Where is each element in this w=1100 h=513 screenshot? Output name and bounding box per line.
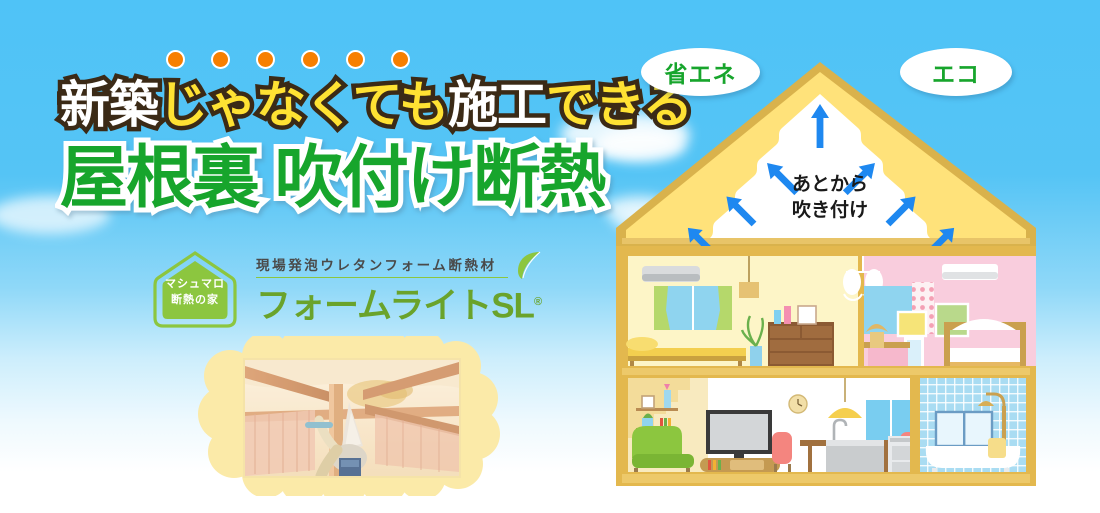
dot — [258, 52, 273, 67]
headline-line-1: 新築じゃなくても施工できる — [60, 74, 640, 136]
attic-label-line-2: 吹き付け — [770, 198, 890, 224]
logo-text-block: 現場発泡ウレタンフォーム断熱材 フォームライトSL® — [256, 254, 536, 328]
house-svg — [612, 60, 1052, 486]
attic-spray-foam-photo — [243, 358, 461, 478]
attic-label-line-1: あとから — [770, 172, 890, 198]
headline-line-1-part-3: 施工 — [448, 77, 546, 133]
installation-photo-block — [196, 336, 502, 496]
house-cutaway-illustration — [612, 60, 1052, 486]
dot — [348, 52, 363, 67]
headline-line-1-part-2: じゃなくても — [158, 77, 448, 133]
attic-spray-label: あとから 吹き付け — [770, 172, 890, 224]
registered-trademark-icon: ® — [534, 296, 541, 308]
headline-line-2: 屋根裏 吹付け断熱 — [60, 138, 660, 218]
logo-product-name: フォームライトSL® — [256, 281, 536, 328]
dot — [303, 52, 318, 67]
product-name-text: フォームライトSL — [256, 287, 534, 326]
dot — [393, 52, 408, 67]
banner-stage: 新築じゃなくても施工できる 屋根裏 吹付け断熱 マシュマロ 断熱の家 現場発泡ウ… — [0, 0, 1100, 513]
leaf-icon — [516, 250, 542, 280]
marshmallow-house-badge: マシュマロ 断熱の家 — [152, 250, 238, 330]
dot-row — [168, 52, 408, 70]
dot — [213, 52, 228, 67]
logo-subtitle: 現場発泡ウレタンフォーム断熱材 — [256, 254, 508, 278]
badge-line-1: マシュマロ — [152, 276, 238, 292]
headline-line-1-part-1: 新築 — [60, 77, 158, 133]
dot — [168, 52, 183, 67]
badge-text: マシュマロ 断熱の家 — [152, 276, 238, 308]
badge-line-2: 断熱の家 — [152, 292, 238, 308]
product-logo: マシュマロ 断熱の家 現場発泡ウレタンフォーム断熱材 フォームライトSL® — [152, 250, 532, 332]
photo-illustration — [245, 360, 459, 476]
